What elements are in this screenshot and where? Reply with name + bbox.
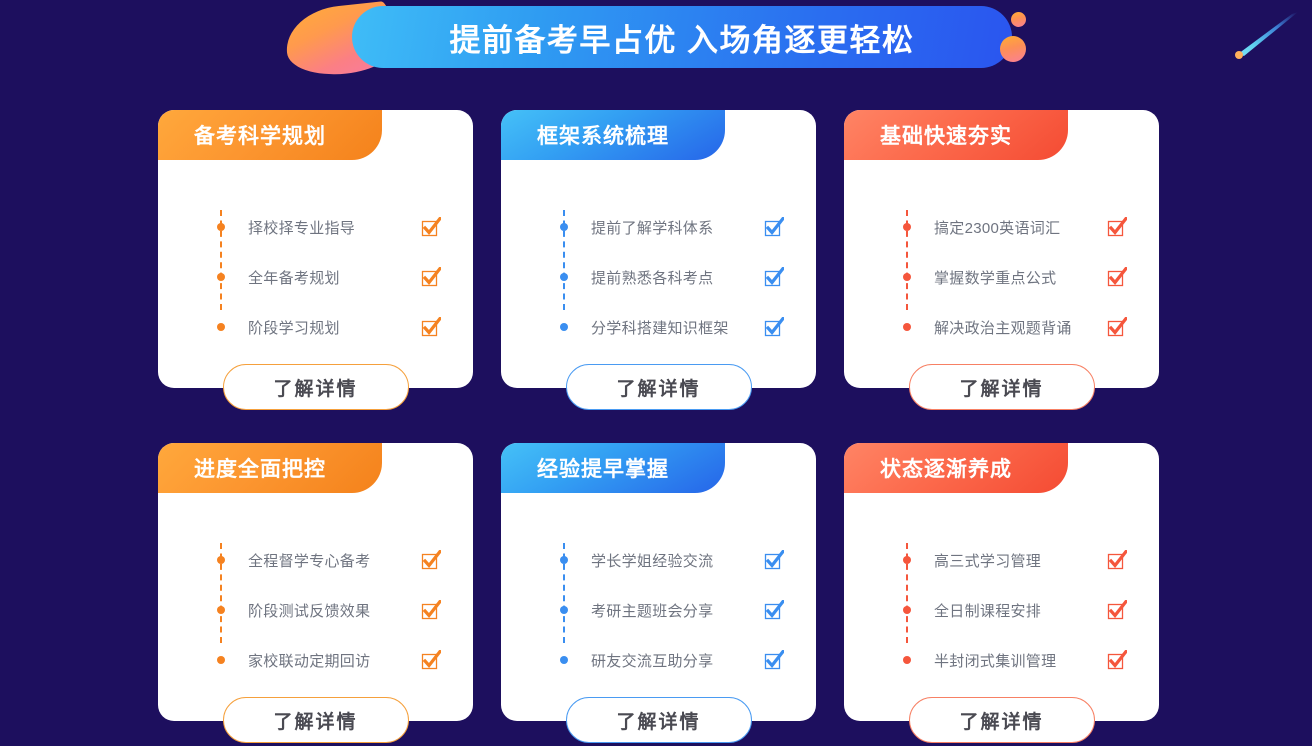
- card-title: 基础快速夯实: [880, 120, 1012, 150]
- feature-list: 学长学姐经验交流考研主题班会分享研友交流互助分享: [559, 535, 774, 685]
- feature-label: 高三式学习管理: [934, 550, 1041, 571]
- feature-label: 研友交流互助分享: [591, 650, 713, 671]
- checkbox-checked-icon: [421, 600, 441, 620]
- feature-label: 考研主题班会分享: [591, 600, 713, 621]
- learn-more-label: 了解详情: [959, 374, 1043, 401]
- card-title: 进度全面把控: [194, 453, 326, 483]
- bullet-dot-icon: [217, 556, 225, 564]
- banner-pill: 提前备考早占优 入场角逐更轻松: [352, 6, 1012, 68]
- card-title: 备考科学规划: [194, 120, 326, 150]
- checkbox-checked-icon: [764, 650, 784, 670]
- card-title: 框架系统梳理: [537, 120, 669, 150]
- checkbox-checked-icon: [1107, 550, 1127, 570]
- feature-card: 状态逐渐养成高三式学习管理全日制课程安排半封闭式集训管理了解详情: [844, 443, 1159, 721]
- checkbox-checked-icon: [1107, 650, 1127, 670]
- checkbox-checked-icon: [764, 267, 784, 287]
- feature-label: 择校择专业指导: [248, 217, 355, 238]
- feature-list: 搞定2300英语词汇掌握数学重点公式解决政治主观题背诵: [902, 202, 1117, 352]
- learn-more-button[interactable]: 了解详情: [909, 697, 1095, 743]
- learn-more-label: 了解详情: [616, 707, 700, 734]
- feature-label: 全年备考规划: [248, 267, 340, 288]
- checkbox-checked-icon: [421, 267, 441, 287]
- bullet-dot-icon: [217, 223, 225, 231]
- bullet-dot-icon: [903, 223, 911, 231]
- bullet-dot-icon: [560, 556, 568, 564]
- feature-row: 考研主题班会分享: [559, 585, 774, 635]
- bullet-dot-icon: [217, 606, 225, 614]
- learn-more-label: 了解详情: [273, 707, 357, 734]
- feature-label: 解决政治主观题背诵: [934, 317, 1072, 338]
- bullet-dot-icon: [560, 656, 568, 664]
- dot-large-decoration: [1000, 36, 1026, 62]
- bullet-dot-icon: [903, 323, 911, 331]
- bullet-dot-icon: [217, 323, 225, 331]
- feature-list: 择校择专业指导全年备考规划阶段学习规划: [216, 202, 431, 352]
- learn-more-button[interactable]: 了解详情: [223, 364, 409, 410]
- feature-label: 搞定2300英语词汇: [934, 217, 1060, 238]
- checkbox-checked-icon: [421, 217, 441, 237]
- feature-row: 分学科搭建知识框架: [559, 302, 774, 352]
- feature-label: 阶段测试反馈效果: [248, 600, 370, 621]
- feature-card: 基础快速夯实搞定2300英语词汇掌握数学重点公式解决政治主观题背诵了解详情: [844, 110, 1159, 388]
- bullet-dot-icon: [903, 273, 911, 281]
- learn-more-label: 了解详情: [616, 374, 700, 401]
- checkbox-checked-icon: [421, 650, 441, 670]
- checkbox-checked-icon: [1107, 317, 1127, 337]
- bullet-dot-icon: [217, 273, 225, 281]
- banner-title: 提前备考早占优 入场角逐更轻松: [449, 15, 914, 60]
- feature-label: 家校联动定期回访: [248, 650, 370, 671]
- learn-more-label: 了解详情: [273, 374, 357, 401]
- feature-row: 提前了解学科体系: [559, 202, 774, 252]
- bullet-dot-icon: [903, 556, 911, 564]
- feature-row: 全程督学专心备考: [216, 535, 431, 585]
- card-header: 进度全面把控: [158, 443, 382, 493]
- feature-row: 学长学姐经验交流: [559, 535, 774, 585]
- comet-icon: [1228, 10, 1300, 60]
- checkbox-checked-icon: [421, 317, 441, 337]
- feature-row: 搞定2300英语词汇: [902, 202, 1117, 252]
- checkbox-checked-icon: [1107, 267, 1127, 287]
- feature-card: 备考科学规划择校择专业指导全年备考规划阶段学习规划了解详情: [158, 110, 473, 388]
- learn-more-button[interactable]: 了解详情: [566, 697, 752, 743]
- feature-label: 提前熟悉各科考点: [591, 267, 713, 288]
- feature-row: 阶段测试反馈效果: [216, 585, 431, 635]
- checkbox-checked-icon: [764, 317, 784, 337]
- feature-label: 学长学姐经验交流: [591, 550, 713, 571]
- dot-small-decoration: [1011, 12, 1026, 27]
- feature-card: 进度全面把控全程督学专心备考阶段测试反馈效果家校联动定期回访了解详情: [158, 443, 473, 721]
- feature-label: 提前了解学科体系: [591, 217, 713, 238]
- bullet-dot-icon: [560, 323, 568, 331]
- feature-card-grid: 备考科学规划择校择专业指导全年备考规划阶段学习规划了解详情框架系统梳理提前了解学…: [158, 110, 1168, 721]
- checkbox-checked-icon: [764, 550, 784, 570]
- feature-row: 研友交流互助分享: [559, 635, 774, 685]
- feature-row: 阶段学习规划: [216, 302, 431, 352]
- checkbox-checked-icon: [764, 600, 784, 620]
- feature-row: 解决政治主观题背诵: [902, 302, 1117, 352]
- card-header: 备考科学规划: [158, 110, 382, 160]
- feature-list: 高三式学习管理全日制课程安排半封闭式集训管理: [902, 535, 1117, 685]
- card-header: 状态逐渐养成: [844, 443, 1068, 493]
- card-title: 经验提早掌握: [537, 453, 669, 483]
- feature-row: 高三式学习管理: [902, 535, 1117, 585]
- feature-card: 框架系统梳理提前了解学科体系提前熟悉各科考点分学科搭建知识框架了解详情: [501, 110, 816, 388]
- card-header: 框架系统梳理: [501, 110, 725, 160]
- card-title: 状态逐渐养成: [880, 453, 1012, 483]
- feature-label: 阶段学习规划: [248, 317, 340, 338]
- feature-label: 全程督学专心备考: [248, 550, 370, 571]
- bullet-dot-icon: [560, 606, 568, 614]
- feature-row: 提前熟悉各科考点: [559, 252, 774, 302]
- feature-row: 半封闭式集训管理: [902, 635, 1117, 685]
- learn-more-button[interactable]: 了解详情: [223, 697, 409, 743]
- card-header: 基础快速夯实: [844, 110, 1068, 160]
- feature-label: 全日制课程安排: [934, 600, 1041, 621]
- feature-list: 全程督学专心备考阶段测试反馈效果家校联动定期回访: [216, 535, 431, 685]
- feature-row: 全年备考规划: [216, 252, 431, 302]
- feature-row: 家校联动定期回访: [216, 635, 431, 685]
- feature-label: 半封闭式集训管理: [934, 650, 1056, 671]
- checkbox-checked-icon: [421, 550, 441, 570]
- checkbox-checked-icon: [1107, 217, 1127, 237]
- bullet-dot-icon: [560, 273, 568, 281]
- feature-list: 提前了解学科体系提前熟悉各科考点分学科搭建知识框架: [559, 202, 774, 352]
- checkbox-checked-icon: [764, 217, 784, 237]
- feature-label: 掌握数学重点公式: [934, 267, 1056, 288]
- checkbox-checked-icon: [1107, 600, 1127, 620]
- feature-row: 掌握数学重点公式: [902, 252, 1117, 302]
- bullet-dot-icon: [903, 656, 911, 664]
- feature-row: 全日制课程安排: [902, 585, 1117, 635]
- bullet-dot-icon: [217, 656, 225, 664]
- feature-row: 择校择专业指导: [216, 202, 431, 252]
- bullet-dot-icon: [903, 606, 911, 614]
- learn-more-label: 了解详情: [959, 707, 1043, 734]
- bullet-dot-icon: [560, 223, 568, 231]
- card-header: 经验提早掌握: [501, 443, 725, 493]
- promo-banner: 提前备考早占优 入场角逐更轻松: [0, 0, 1312, 86]
- learn-more-button[interactable]: 了解详情: [909, 364, 1095, 410]
- learn-more-button[interactable]: 了解详情: [566, 364, 752, 410]
- feature-card: 经验提早掌握学长学姐经验交流考研主题班会分享研友交流互助分享了解详情: [501, 443, 816, 721]
- feature-label: 分学科搭建知识框架: [591, 317, 729, 338]
